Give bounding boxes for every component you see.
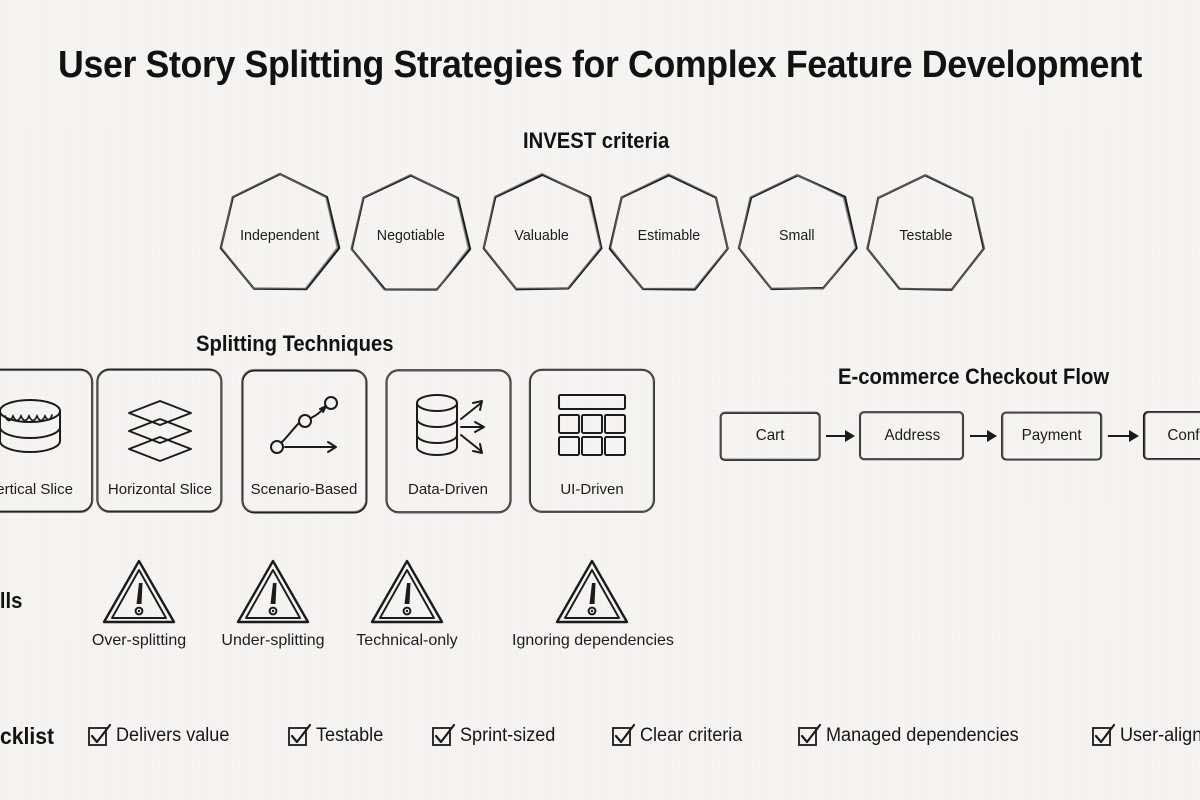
checkbox-checked-icon[interactable] [88,726,108,746]
checkbox-checked-icon[interactable] [432,726,452,746]
checkout-step-address[interactable]: Address [858,410,966,462]
checkout-heading: E-commerce Checkout Flow [838,364,1109,390]
technique-card-data-driven[interactable]: Data-Driven [383,367,513,515]
branching-path-icon [265,389,343,465]
technique-icon-wrap [95,385,225,469]
technique-icon-wrap [239,385,369,469]
flow-arrow [1106,410,1140,462]
page-title: User Story Splitting Strategies for Comp… [36,44,1164,87]
pitfall-label: Technical-only [356,632,457,649]
invest-criterion-valuable: Valuable [477,170,607,300]
technique-card-scenario-based[interactable]: Scenario-Based [239,367,369,515]
flow-arrow [824,410,856,462]
checkbox-checked-icon[interactable] [798,726,818,746]
techniques-heading: Splitting Techniques [196,331,394,357]
checklist-label: User-aligned [1120,725,1200,747]
step-label: Address [884,427,940,445]
checklist-label: Clear criteria [640,725,742,747]
invest-criterion-estimable: Estimable [604,170,734,300]
checklist-label: Sprint-sized [460,725,555,747]
warning-triangle-icon [84,556,194,628]
warning-triangle-icon [352,556,462,628]
pitfalls-heading: Pitfalls [0,588,22,614]
invest-criterion-label: Small [779,227,815,244]
technique-label: UI-Driven [560,481,623,498]
layered-cake-icon [0,389,69,465]
pitfall-label: Under-splitting [221,632,324,649]
invest-criterion-small: Small [732,170,862,300]
pitfall-over-splitting: Over-splitting [84,556,194,650]
pitfall-ignoring-dependencies: Ignoring dependencies [512,556,672,650]
checklist-item-delivers-value[interactable]: Delivers value [88,725,235,747]
invest-criterion-independent: Independent [215,170,345,300]
flow-arrow [968,410,998,462]
step-label: Confirm [1167,427,1200,445]
invest-criterion-label: Estimable [638,227,701,244]
checklist-label: Testable [316,725,383,747]
step-label: Payment [1022,427,1082,445]
checklist-item-user-aligned[interactable]: User-aligned [1092,725,1200,747]
warning-triangle-icon [512,556,672,628]
technique-icon-wrap [383,385,513,469]
wireframe-grid-icon [553,389,631,465]
pitfall-technical-only: Technical-only [352,556,462,650]
checklist-item-sprint-sized[interactable]: Sprint-sized [432,725,560,747]
invest-heading: INVEST criteria [523,128,669,154]
step-label: Cart [756,427,785,445]
technique-icon-wrap [0,385,95,469]
checklist-item-testable[interactable]: Testable [288,725,387,747]
technique-card-ui-driven[interactable]: UI-Driven [527,367,657,515]
checkout-step-payment[interactable]: Payment [1000,410,1104,462]
technique-label: Data-Driven [408,481,488,498]
pitfall-under-splitting: Under-splitting [218,556,328,650]
checklist-item-managed-dependencies[interactable]: Managed dependencies [798,725,1029,747]
invest-criterion-label: Negotiable [377,227,445,244]
technique-label: Horizontal Slice [108,481,212,498]
checkbox-checked-icon[interactable] [612,726,632,746]
invest-criterion-negotiable: Negotiable [346,170,476,300]
technique-icon-wrap [527,385,657,469]
checkout-step-confirm[interactable]: Confirm [1142,410,1200,462]
checkbox-checked-icon[interactable] [288,726,308,746]
database-arrows-icon [409,389,487,465]
invest-criterion-label: Independent [240,227,319,244]
warning-triangle-icon [218,556,328,628]
pitfall-label: Over-splitting [92,632,186,649]
technique-label: Scenario-Based [251,481,358,498]
pitfall-label: Ignoring dependencies [512,632,674,649]
invest-criterion-testable: Testable [861,170,991,300]
technique-label: Vertical Slice [0,481,73,498]
invest-criterion-label: Testable [899,227,952,244]
technique-card-horizontal-slice[interactable]: Horizontal Slice [95,367,225,515]
technique-card-vertical-slice[interactable]: Vertical Slice [0,367,95,515]
invest-criterion-label: Valuable [515,227,569,244]
stacked-layers-icon [121,389,199,465]
checklist-label: Delivers value [116,725,229,747]
checklist-item-clear-criteria[interactable]: Clear criteria [612,725,748,747]
checklist-label: Managed dependencies [826,725,1019,747]
checkbox-checked-icon[interactable] [1092,726,1112,746]
checklist-heading: Checklist [0,723,54,750]
checkout-step-cart[interactable]: Cart [718,410,822,462]
